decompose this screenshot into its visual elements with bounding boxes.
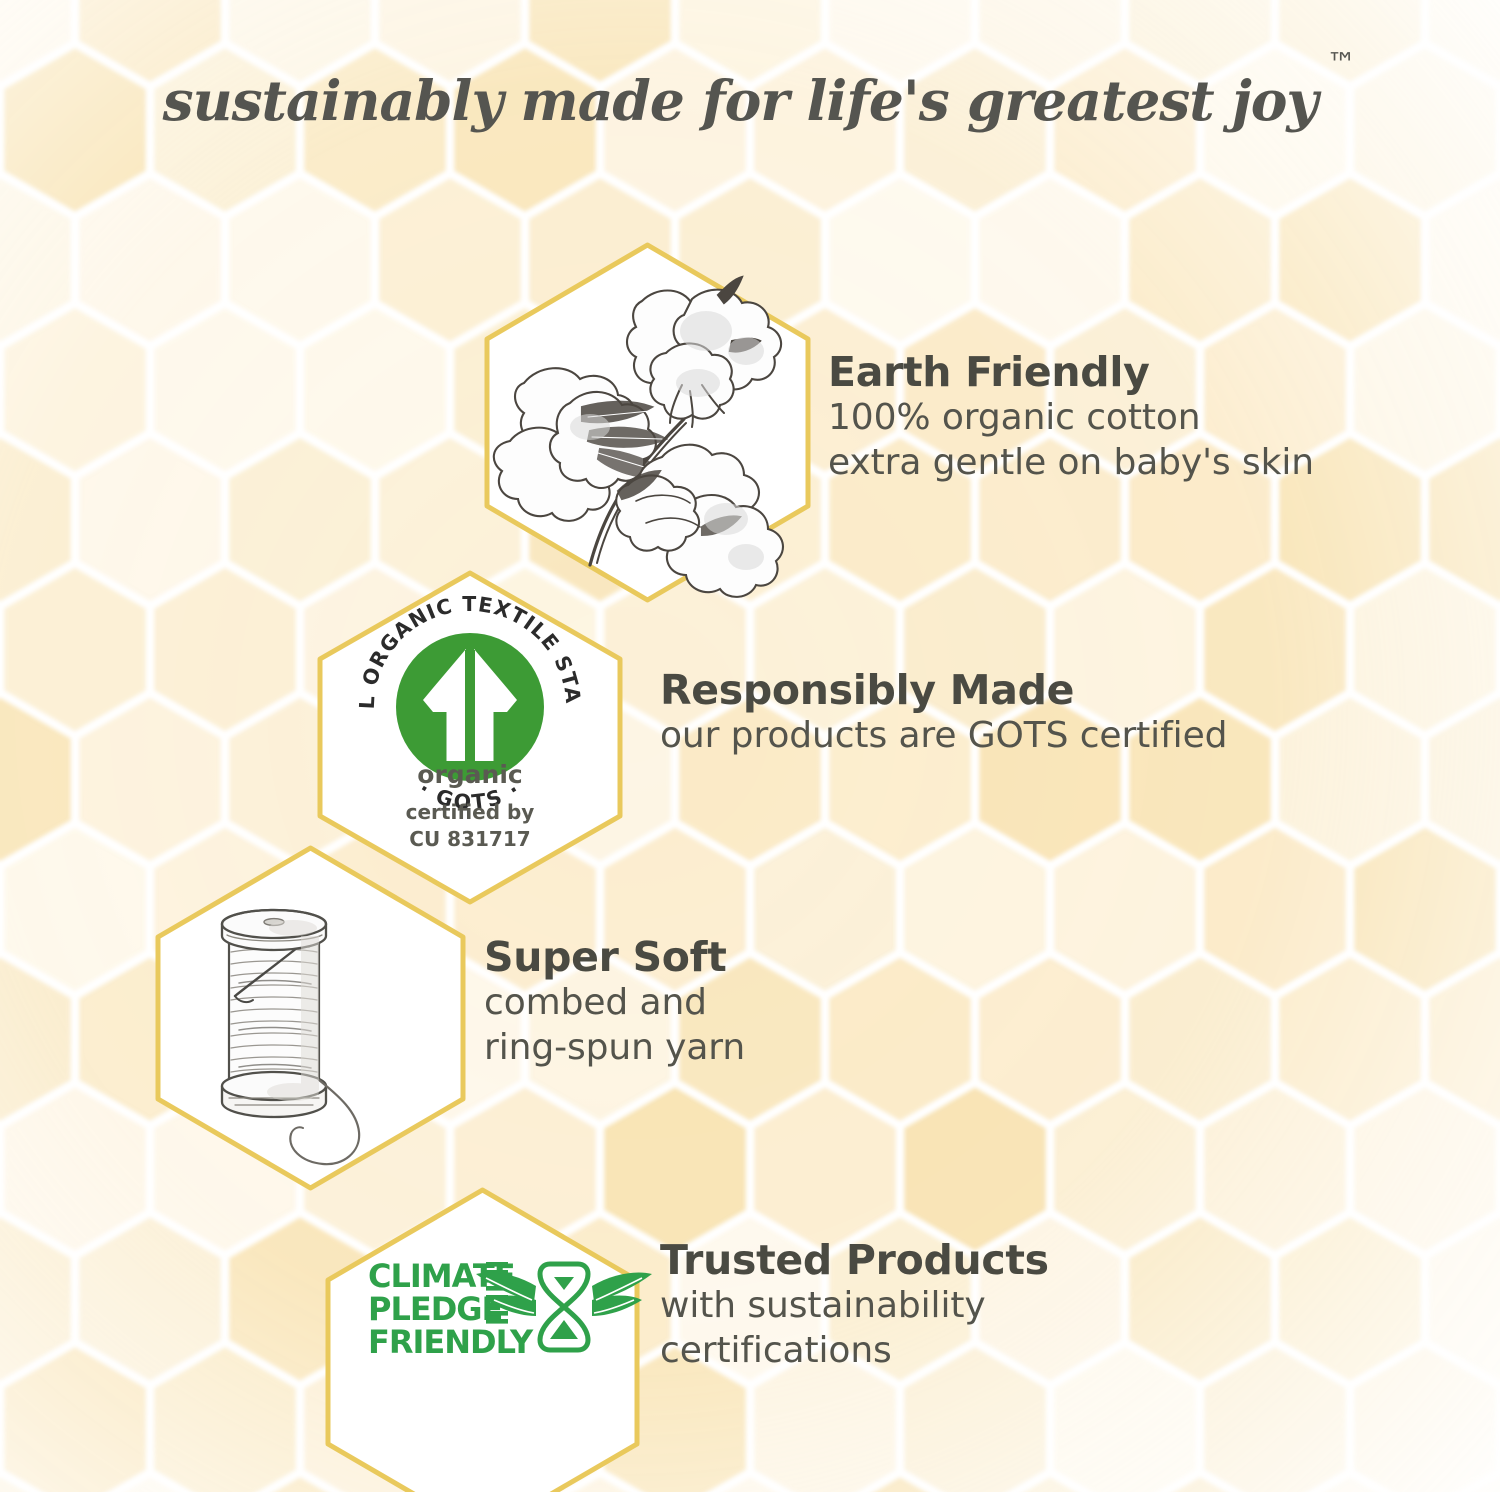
feature-line: certifications <box>660 1329 1049 1374</box>
feature-text-trusted-products: Trusted Products with sustainability cer… <box>660 1238 1049 1373</box>
feature-title: Super Soft <box>484 935 745 981</box>
feature-line: combed and <box>484 981 745 1026</box>
feature-text-earth-friendly: Earth Friendly 100% organic cotton extra… <box>828 350 1314 485</box>
feature-line: with sustainability <box>660 1284 1049 1329</box>
feature-title: Trusted Products <box>660 1238 1049 1284</box>
gots-organic-label: organic <box>417 760 522 789</box>
cpf-line3: FRIENDLY <box>368 1323 534 1361</box>
gots-green-circle <box>396 633 544 781</box>
tagline-text: sustainably made for life's greatest joy <box>162 68 1323 133</box>
gots-certified-by-label: certified by <box>406 800 535 824</box>
trademark-symbol: ™ <box>1326 47 1356 82</box>
feature-line: 100% organic cotton <box>828 396 1314 441</box>
gots-label-block: organic certified by CU 831717 <box>406 760 535 851</box>
feature-line: extra gentle on baby's skin <box>828 441 1314 486</box>
feature-title: Earth Friendly <box>828 350 1314 396</box>
feature-hex-super-soft <box>143 840 478 1196</box>
page-tagline: sustainably made for life's greatest joy… <box>0 40 1500 160</box>
feature-text-super-soft: Super Soft combed and ring-spun yarn <box>484 935 745 1070</box>
sustainability-infographic: sustainably made for life's greatest joy… <box>0 0 1500 1492</box>
feature-text-responsibly-made: Responsibly Made our products are GOTS c… <box>660 668 1227 759</box>
feature-line: our products are GOTS certified <box>660 714 1227 759</box>
feature-title: Responsibly Made <box>660 668 1227 714</box>
feature-line: ring-spun yarn <box>484 1026 745 1071</box>
feature-hex-earth-friendly <box>470 235 825 610</box>
feature-hex-trusted-products: CLIMATE PLEDGE FRIENDLY <box>310 1182 655 1492</box>
